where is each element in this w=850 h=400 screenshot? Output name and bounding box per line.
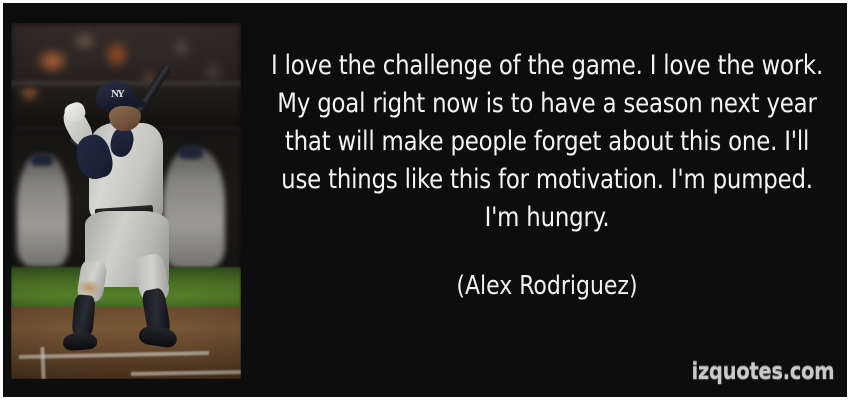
quote-body: I love the challenge of the game. I love… [251, 47, 843, 301]
batter-back-cleat [62, 332, 97, 351]
baseball-player-photo: NY [11, 23, 241, 379]
quote-photo-frame: NY [11, 23, 241, 379]
quote-author: (Alex Rodriguez) [269, 271, 825, 301]
batter-figure: NY [11, 23, 241, 379]
batter-front-cleat [138, 324, 178, 348]
site-watermark: izquotes.com [691, 359, 834, 385]
team-logo-icon: NY [111, 89, 124, 100]
quote-card: NY I love the challenge of the game. I l… [0, 0, 850, 400]
quote-text: I love the challenge of the game. I love… [269, 47, 825, 237]
